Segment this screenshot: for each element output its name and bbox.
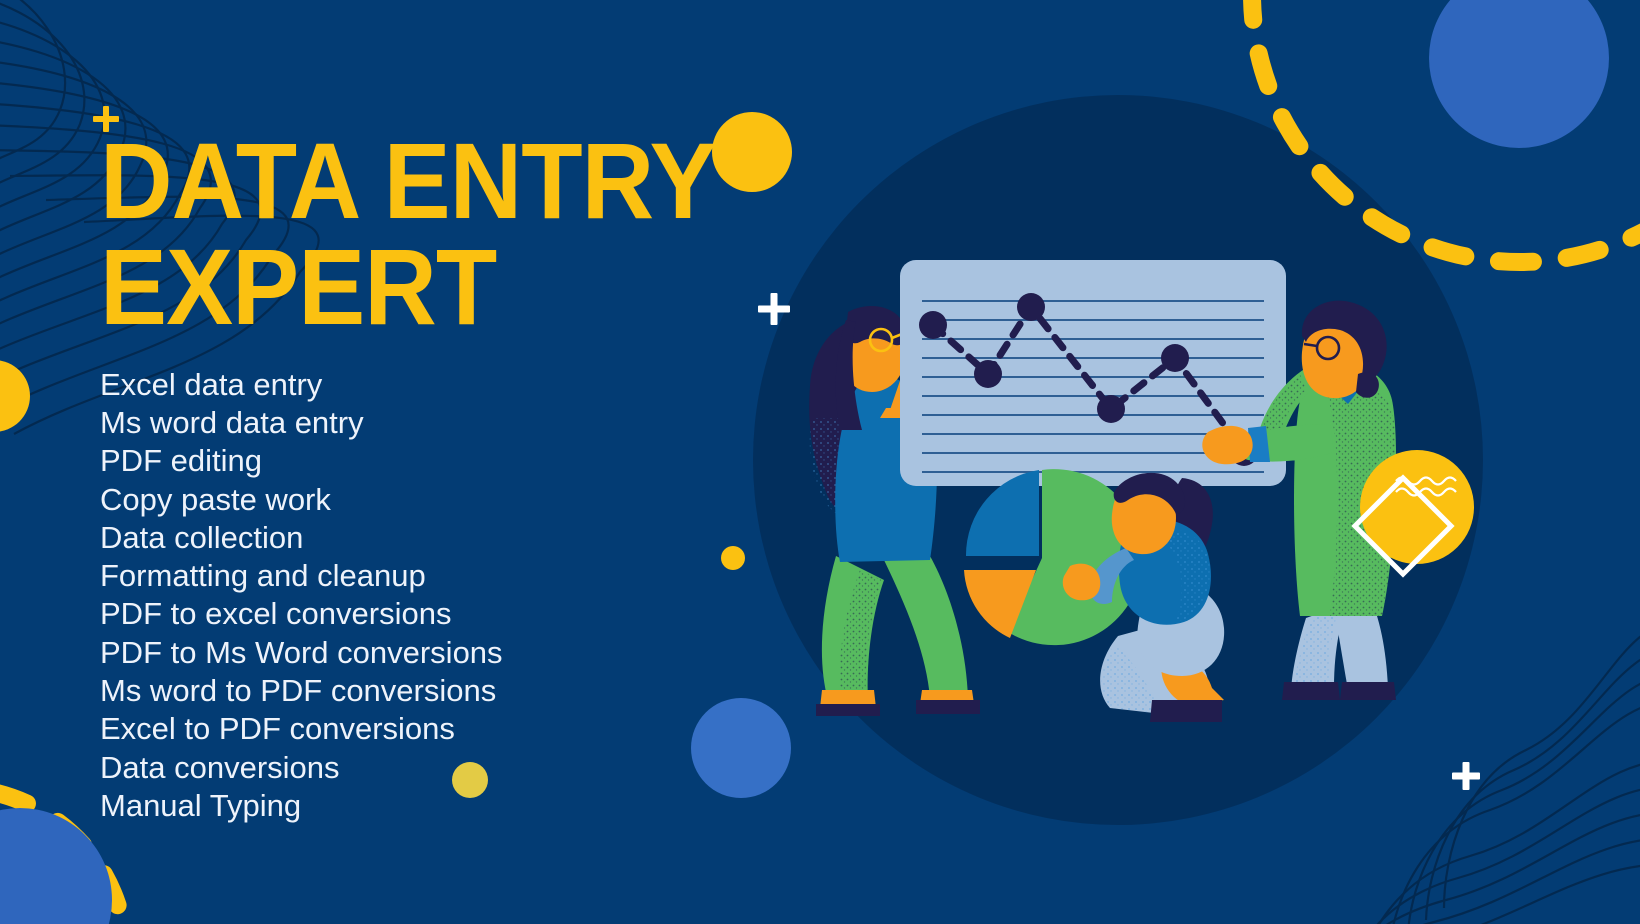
list-item: PDF to excel conversions [100,595,860,633]
banner-canvas: DATA ENTRY EXPERT Excel data entry Ms wo… [0,0,1640,924]
woman-shoe-right [916,700,980,714]
list-item: Excel data entry [100,366,860,404]
man-shoe-right [1340,682,1396,700]
man-hand [1202,426,1252,464]
text-column: DATA ENTRY EXPERT Excel data entry Ms wo… [100,128,860,825]
list-item: Ms word data entry [100,404,860,442]
list-item: Manual Typing [100,787,860,825]
list-item: Data conversions [100,749,860,787]
list-item: PDF editing [100,442,860,480]
services-list: Excel data entry Ms word data entry PDF … [100,366,860,826]
list-item: Excel to PDF conversions [100,710,860,748]
woman-pant-right [884,556,968,698]
list-item: PDF to Ms Word conversions [100,634,860,672]
plus-mark-yellow-top-left-icon [93,106,119,132]
crouch-shoe [1150,700,1222,722]
list-item: Copy paste work [100,481,860,519]
list-item: Data collection [100,519,860,557]
plus-mark-white-center-left-icon [758,293,790,325]
crouch-hand [1063,564,1100,601]
list-item: Ms word to PDF conversions [100,672,860,710]
man-shoe-left [1282,682,1340,700]
page-title: DATA ENTRY EXPERT [100,128,807,340]
man-hair-back [1356,372,1379,398]
list-item: Formatting and cleanup [100,557,860,595]
plus-mark-white-bottom-right-icon [1452,762,1480,790]
